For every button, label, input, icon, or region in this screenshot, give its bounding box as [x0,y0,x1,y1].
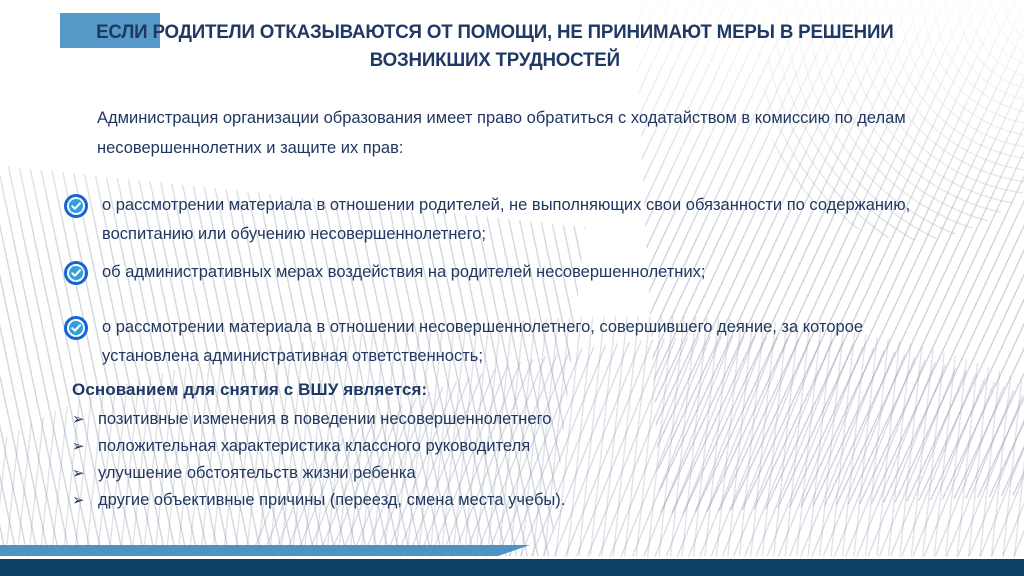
check-circle-icon [64,194,88,218]
arrow-bullet-icon: ➢ [72,406,98,433]
bottom-navy-bar [0,559,1024,576]
list-item-label: позитивные изменения в поведении несовер… [98,406,551,433]
arrow-bullet-icon: ➢ [72,460,98,487]
reasons-list: ➢ позитивные изменения в поведении несов… [72,406,932,514]
list-item-label: об административных мерах воздействия на… [102,258,705,287]
list-item-label: о рассмотрении материала в отношении род… [102,191,924,249]
intro-paragraph: Администрация организации образования им… [97,103,927,163]
list-item: ➢ другие объективные причины (переезд, с… [72,487,932,514]
slide-canvas: ЕСЛИ РОДИТЕЛИ ОТКАЗЫВАЮТСЯ ОТ ПОМОЩИ, НЕ… [0,0,1024,576]
bottom-blue-band [0,545,530,556]
list-item-label: положительная характеристика классного р… [98,433,530,460]
list-item: о рассмотрении материала в отношении нес… [64,313,924,371]
list-item: о рассмотрении материала в отношении род… [64,191,924,249]
list-item-label: о рассмотрении материала в отношении нес… [102,313,924,371]
arrow-bullet-icon: ➢ [72,487,98,514]
reasons-heading: Основанием для снятия с ВШУ является: [72,380,427,400]
list-item: ➢ положительная характеристика классного… [72,433,932,460]
check-circle-icon [64,261,88,285]
list-item: об административных мерах воздействия на… [64,258,924,287]
list-item: ➢ улучшение обстоятельств жизни ребенка [72,460,932,487]
check-circle-icon [64,316,88,340]
list-item-label: другие объективные причины (переезд, сме… [98,487,565,514]
list-item-label: улучшение обстоятельств жизни ребенка [98,460,416,487]
slide-title: ЕСЛИ РОДИТЕЛИ ОТКАЗЫВАЮТСЯ ОТ ПОМОЩИ, НЕ… [58,18,932,74]
arrow-bullet-icon: ➢ [72,433,98,460]
list-item: ➢ позитивные изменения в поведении несов… [72,406,932,433]
